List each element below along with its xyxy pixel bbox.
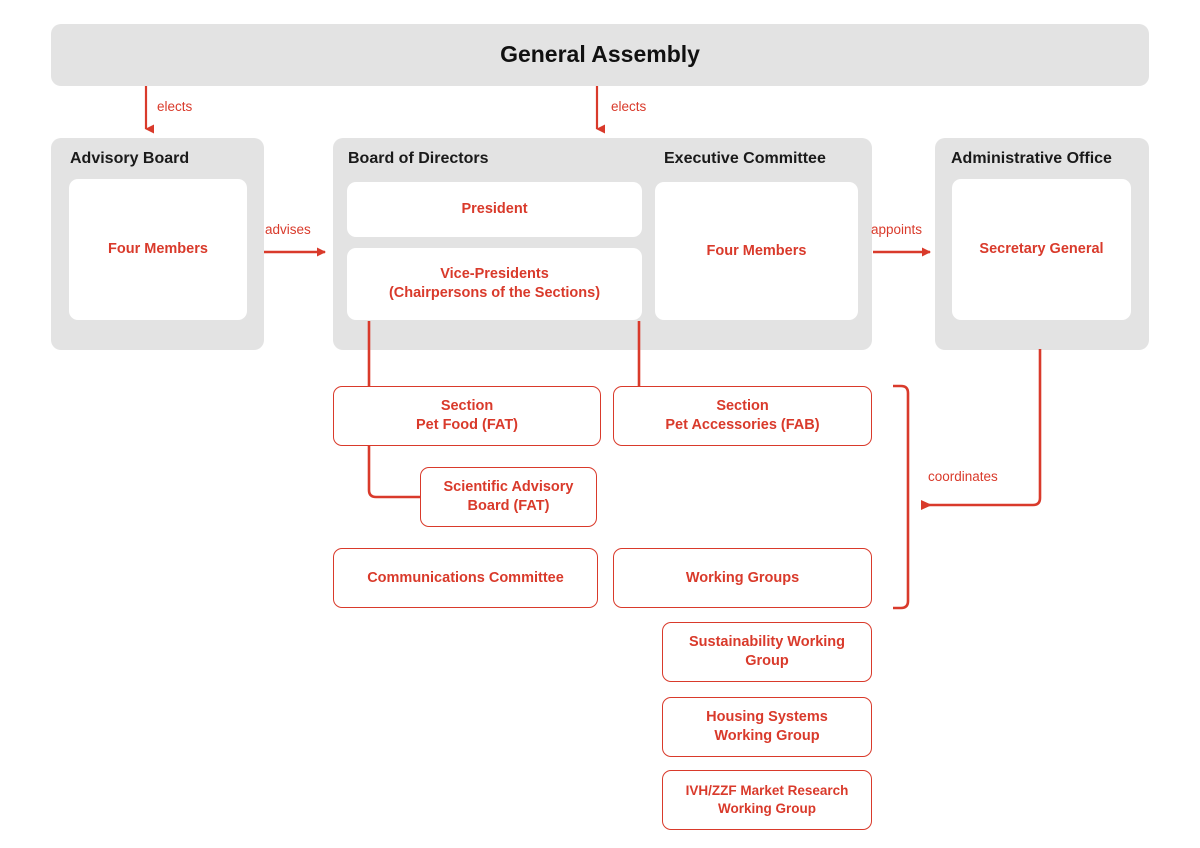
edge-label-elects-left: elects bbox=[157, 99, 192, 114]
card-vice-presidents[interactable]: Vice-Presidents (Chairpersons of the Sec… bbox=[347, 248, 642, 320]
wg-housing-line1: Housing Systems bbox=[706, 708, 828, 727]
box-scientific-advisory-board[interactable]: Scientific Advisory Board (FAT) bbox=[420, 467, 597, 527]
section-pet-food-line1: Section bbox=[441, 397, 493, 416]
box-working-group-sustainability[interactable]: Sustainability Working Group bbox=[662, 622, 872, 682]
general-assembly-title: General Assembly bbox=[51, 41, 1149, 68]
org-chart-diagram: General Assembly bbox=[0, 0, 1200, 848]
scientific-advisory-line2: Board (FAT) bbox=[468, 497, 550, 516]
wg-sustainability-line1: Sustainability Working bbox=[689, 633, 845, 652]
executive-committee-title: Executive Committee bbox=[664, 150, 826, 168]
edge-label-advises: advises bbox=[265, 222, 311, 237]
box-working-group-market-research[interactable]: IVH/ZZF Market Research Working Group bbox=[662, 770, 872, 830]
administrative-office-title: Administrative Office bbox=[951, 150, 1112, 168]
edge-label-coordinates: coordinates bbox=[928, 469, 998, 484]
panel-administrative-office: Administrative Office Secretary General bbox=[935, 138, 1149, 350]
section-pet-accessories-line2: Pet Accessories (FAB) bbox=[665, 416, 819, 435]
card-vice-presidents-line1: Vice-Presidents bbox=[440, 265, 549, 284]
wg-housing-line2: Working Group bbox=[714, 727, 819, 746]
wg-market-research-line1: IVH/ZZF Market Research bbox=[686, 782, 849, 800]
card-vice-presidents-line2: (Chairpersons of the Sections) bbox=[389, 284, 600, 303]
wg-market-research-line2: Working Group bbox=[718, 800, 816, 818]
section-pet-accessories-line1: Section bbox=[716, 397, 768, 416]
box-working-group-housing-systems[interactable]: Housing Systems Working Group bbox=[662, 697, 872, 757]
card-executive-committee-members[interactable]: Four Members bbox=[655, 182, 858, 320]
card-president[interactable]: President bbox=[347, 182, 642, 237]
edge-label-appoints: appoints bbox=[871, 222, 922, 237]
board-of-directors-title: Board of Directors bbox=[348, 150, 488, 168]
box-working-groups[interactable]: Working Groups bbox=[613, 548, 872, 608]
card-secretary-general[interactable]: Secretary General bbox=[952, 179, 1131, 320]
card-advisory-board-members[interactable]: Four Members bbox=[69, 179, 247, 320]
section-pet-food-line2: Pet Food (FAT) bbox=[416, 416, 518, 435]
edge-label-elects-center: elects bbox=[611, 99, 646, 114]
box-communications-committee[interactable]: Communications Committee bbox=[333, 548, 598, 608]
panel-advisory-board: Advisory Board Four Members bbox=[51, 138, 264, 350]
panel-board-and-executive: Board of Directors Executive Committee P… bbox=[333, 138, 872, 350]
advisory-board-title: Advisory Board bbox=[70, 150, 189, 168]
panel-general-assembly: General Assembly bbox=[51, 24, 1149, 86]
box-section-pet-accessories[interactable]: Section Pet Accessories (FAB) bbox=[613, 386, 872, 446]
scientific-advisory-line1: Scientific Advisory bbox=[443, 478, 573, 497]
box-section-pet-food[interactable]: Section Pet Food (FAT) bbox=[333, 386, 601, 446]
wg-sustainability-line2: Group bbox=[745, 652, 789, 671]
